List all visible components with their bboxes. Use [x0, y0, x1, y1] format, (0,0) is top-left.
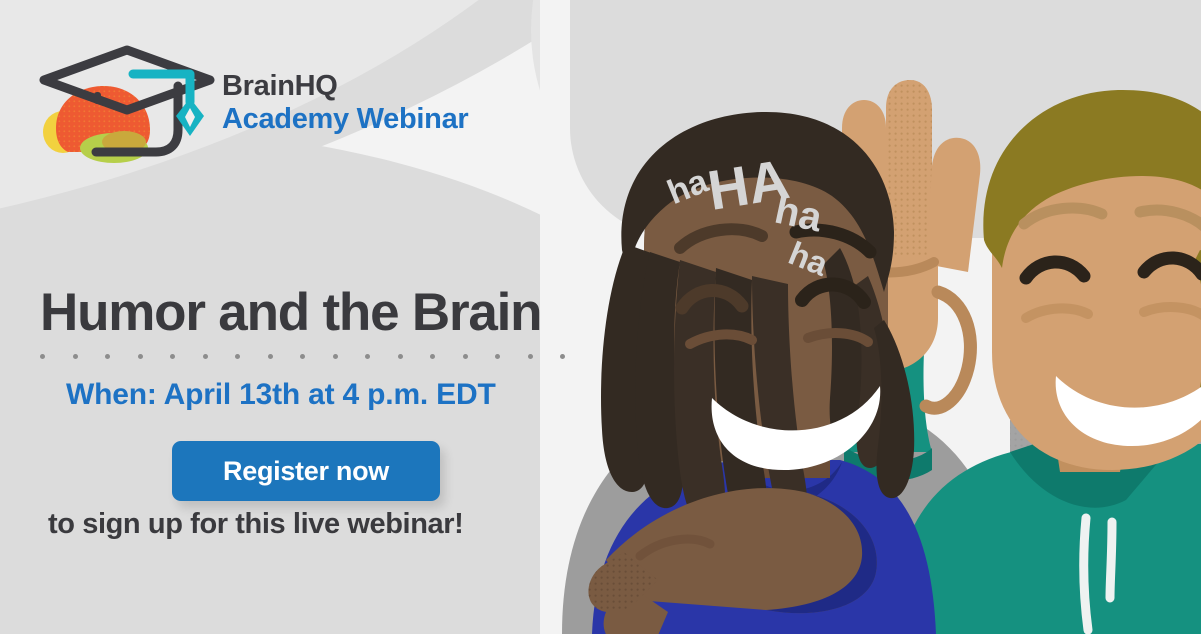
- dotted-divider: [40, 350, 565, 362]
- brainhq-logo: BrainHQ Academy Webinar: [38, 40, 478, 165]
- divider-dot: [300, 354, 305, 359]
- divider-dot: [560, 354, 565, 359]
- divider-dot: [170, 354, 175, 359]
- webinar-promo-banner: ha HA ha ha: [0, 0, 1201, 634]
- divider-dot: [138, 354, 143, 359]
- logo-wordmark: BrainHQ Academy Webinar: [222, 72, 468, 134]
- webinar-datetime: When: April 13th at 4 p.m. EDT: [66, 378, 496, 412]
- divider-dot: [430, 354, 435, 359]
- register-now-button[interactable]: Register now: [172, 441, 440, 501]
- signup-caption: to sign up for this live webinar!: [48, 508, 463, 541]
- divider-dot: [105, 354, 110, 359]
- laughter-word-3: ha: [771, 188, 826, 242]
- illustration-two-people-laughing: [540, 0, 1201, 634]
- logo-brand-name: BrainHQ: [222, 72, 468, 101]
- divider-dot: [235, 354, 240, 359]
- page-title: Humor and the Brain: [40, 282, 541, 343]
- divider-dot: [203, 354, 208, 359]
- divider-dot: [268, 354, 273, 359]
- divider-dot: [398, 354, 403, 359]
- divider-dot: [463, 354, 468, 359]
- divider-dot: [528, 354, 533, 359]
- logo-brand-subtitle: Academy Webinar: [222, 105, 468, 134]
- graduation-cap-brain-icon: [38, 40, 216, 165]
- divider-dot: [365, 354, 370, 359]
- divider-dot: [333, 354, 338, 359]
- divider-dot: [495, 354, 500, 359]
- divider-dot: [40, 354, 45, 359]
- divider-dot: [73, 354, 78, 359]
